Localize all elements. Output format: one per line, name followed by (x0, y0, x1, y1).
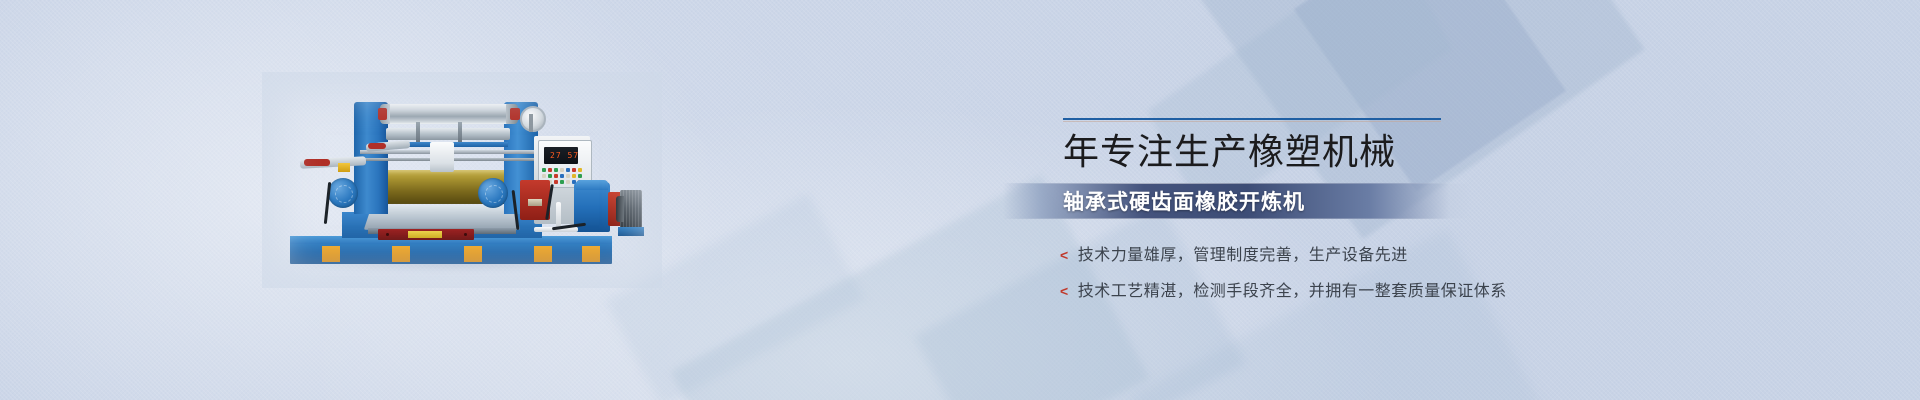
feature-text: 技术工艺精湛，检测手段齐全，并拥有一整套质量保证体系 (1078, 277, 1507, 301)
product-name-bar: 轴承式硬齿面橡胶开炼机 (1003, 183, 1473, 219)
skid-gap (322, 246, 340, 262)
chevron-left-icon: < (1060, 247, 1069, 263)
hmi-button (560, 174, 564, 178)
skid-gap (464, 246, 482, 262)
feed-hopper (430, 142, 454, 172)
safety-bar-upper-grip (368, 143, 386, 149)
skid-gap (534, 246, 552, 262)
product-name-label: 轴承式硬齿面橡胶开炼机 (1063, 186, 1305, 216)
feature-list-item: < 技术力量雄厚，管理制度完善，生产设备先进 (1060, 241, 1623, 265)
hmi-button-row (542, 174, 586, 178)
motor-base (618, 227, 644, 236)
hmi-button (572, 174, 576, 178)
bearing-housing-left (328, 178, 358, 208)
bolt-dot (386, 233, 389, 236)
blender-strut (416, 122, 420, 144)
feature-text: 技术力量雄厚，管理制度完善，生产设备先进 (1078, 241, 1408, 265)
hmi-button (554, 168, 558, 172)
product-photo-rubber-mixing-mill: 27 57 (282, 96, 642, 264)
skid-gap (582, 246, 600, 262)
hmi-button (578, 174, 582, 178)
bearing-housing-right (478, 178, 508, 208)
blender-strut (458, 122, 462, 144)
hmi-button (560, 180, 564, 184)
cable-conduit (556, 202, 561, 228)
hmi-button (548, 168, 552, 172)
hmi-button-row (542, 168, 586, 172)
promo-banner: 27 57 (0, 0, 1920, 400)
feature-list: < 技术力量雄厚，管理制度完善，生产设备先进 < 技术工艺精湛，检测手段齐全，并… (1060, 241, 1623, 301)
upper-roll-end-cap-left (378, 108, 387, 120)
hmi-button (554, 174, 558, 178)
headline-divider (1063, 118, 1441, 120)
chevron-left-icon: < (1060, 283, 1069, 299)
adjustment-handwheel (520, 106, 546, 132)
hmi-button (566, 174, 570, 178)
hmi-button (578, 168, 582, 172)
power-cable (324, 182, 331, 224)
warning-box (338, 163, 350, 172)
upper-roll-end-cap-right (510, 108, 520, 120)
upper-mill-roll (386, 104, 510, 124)
hmi-button (548, 174, 552, 178)
hmi-button (554, 180, 558, 184)
junction-box-plate (528, 199, 542, 206)
gearbox-cover (576, 180, 608, 190)
banner-headline: 年专注生产橡塑机械 (1063, 130, 1623, 174)
hmi-button (572, 168, 576, 172)
motor-end-cap (616, 196, 624, 222)
handwheel-shaft (529, 114, 533, 132)
hmi-button (542, 168, 546, 172)
safety-bar-left-grip (304, 159, 330, 166)
hmi-button (566, 168, 570, 172)
skid-gap (392, 246, 410, 262)
nameplate-label (408, 231, 442, 238)
banner-copy: 年专注生产橡塑机械 轴承式硬齿面橡胶开炼机 < 技术力量雄厚，管理制度完善，生产… (1003, 118, 1623, 313)
hmi-button (566, 180, 570, 184)
hmi-readout: 27 57 (550, 151, 579, 160)
bolt-dot (464, 233, 467, 236)
hmi-button (560, 168, 564, 172)
hmi-button (542, 174, 546, 178)
feature-list-item: < 技术工艺精湛，检测手段齐全，并拥有一整套质量保证体系 (1060, 277, 1623, 301)
stock-blender-bar (386, 128, 510, 140)
